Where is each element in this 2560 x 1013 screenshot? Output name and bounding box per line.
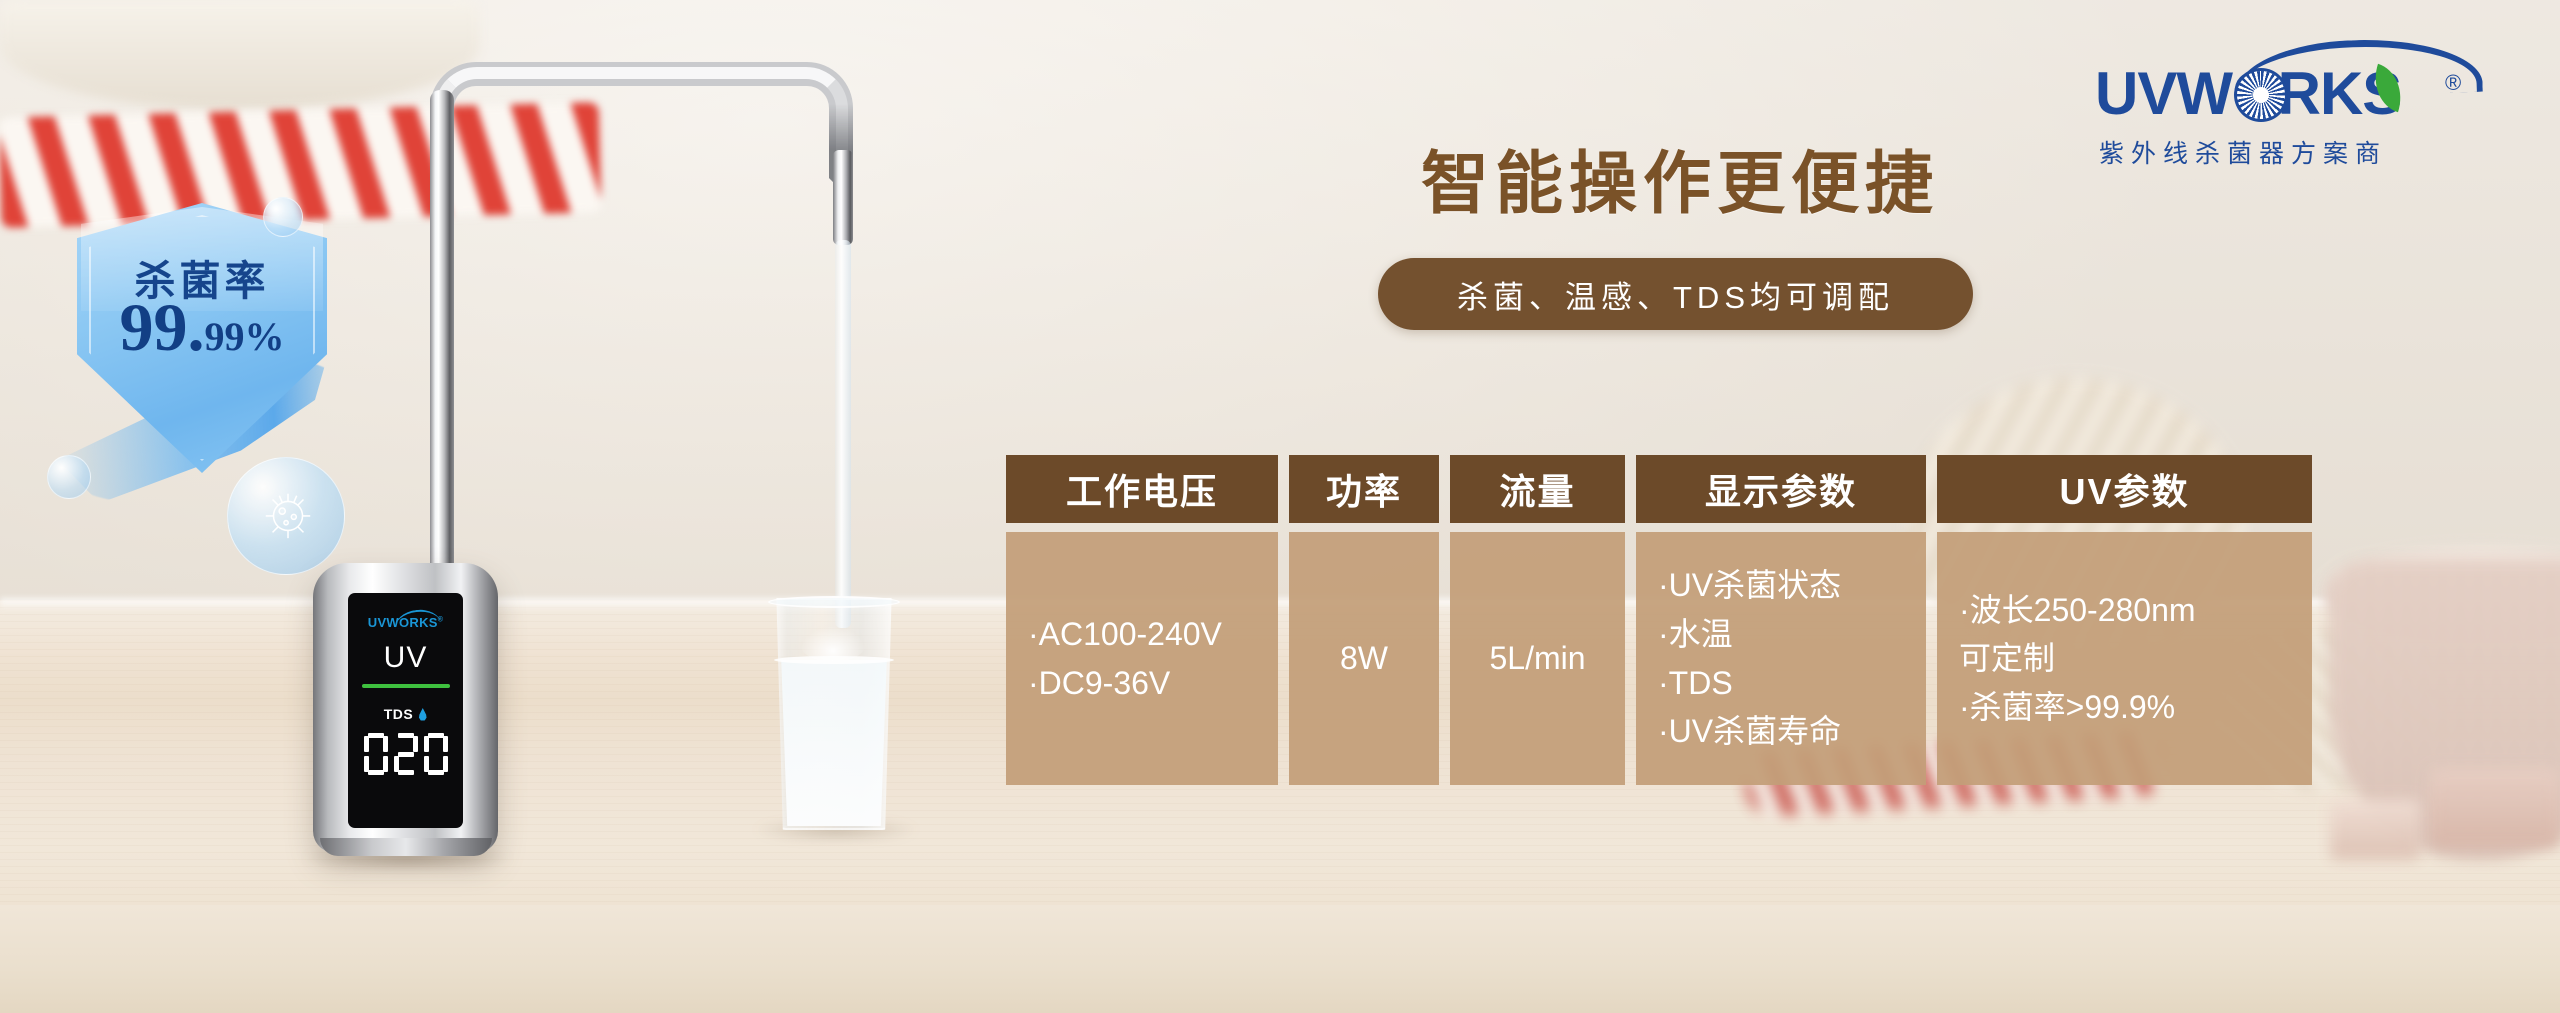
spec-line: ·UV杀菌寿命 <box>1658 707 1926 756</box>
spec-line: ·AC100-240V <box>1028 610 1278 659</box>
bubble-icon-1 <box>263 197 303 237</box>
uv-sterilizer-device: UVWORKS® UV TDS <box>313 563 498 853</box>
device-logo-text: UVWORKS <box>368 615 438 630</box>
subtitle-pill: 杀菌、温感、TDS均可调配 <box>1378 258 1973 330</box>
water-drop-icon <box>418 708 427 721</box>
device-mode-label: UV <box>348 641 463 675</box>
spec-cell-power: 8W <box>1289 532 1439 785</box>
spec-line: ·波长250-280nm <box>1959 586 2312 635</box>
spec-header-uv: UV参数 <box>1937 455 2312 523</box>
banner-canvas: 杀菌率 99.99% <box>0 0 2560 1013</box>
spec-column-voltage: 工作电压 ·AC100-240V ·DC9-36V <box>1006 455 1278 785</box>
spec-column-uv: UV参数 ·波长250-280nm 可定制 ·杀菌率>99.9% <box>1937 455 2312 785</box>
device-display-screen: UVWORKS® UV TDS <box>348 593 463 828</box>
block-prop-right <box>2430 768 2560 848</box>
spec-line: ·UV杀菌状态 <box>1658 561 1926 610</box>
page-title: 智能操作更便捷 <box>1360 128 2000 227</box>
spec-cell-flow: 5L/min <box>1450 532 1625 785</box>
seven-segment-digit <box>364 733 388 775</box>
faucet-arch-shading <box>430 62 853 202</box>
logo-subtitle: 紫外线杀菌器方案商 <box>2099 134 2459 170</box>
spec-column-flow: 流量 5L/min <box>1450 455 1625 785</box>
sterilization-rate-badge: 杀菌率 99.99% <box>35 185 365 505</box>
spec-line: ·DC9-36V <box>1028 659 1278 708</box>
spec-cell-display: ·UV杀菌状态 ·水温 ·TDS ·UV杀菌寿命 <box>1636 532 1926 785</box>
device-tds-value <box>348 733 463 775</box>
faucet-spout <box>833 150 853 245</box>
spec-line: 8W <box>1340 634 1388 683</box>
block-prop-right-2 <box>2330 800 2420 860</box>
spec-column-power: 功率 8W <box>1289 455 1439 785</box>
water-splash <box>800 626 866 662</box>
brand-logo: UVWORKS ® 紫外线杀菌器方案商 <box>2095 38 2495 168</box>
bacteria-icon <box>259 485 317 543</box>
badge-value: 99.99% <box>77 293 327 361</box>
seven-segment-digit <box>424 733 448 775</box>
water-stream <box>835 240 851 628</box>
bubble-icon-2 <box>47 455 91 499</box>
spec-line: 可定制 <box>1959 634 2312 683</box>
spec-line: 5L/min <box>1489 634 1585 683</box>
faucet-column <box>430 90 454 590</box>
spec-line: ·水温 <box>1658 610 1926 659</box>
spec-cell-uv: ·波长250-280nm 可定制 ·杀菌率>99.9% <box>1937 532 2312 785</box>
spec-header-power: 功率 <box>1289 455 1439 523</box>
device-tds-text: TDS <box>384 706 414 722</box>
seven-segment-digit <box>394 733 418 775</box>
device-tds-label: TDS <box>348 706 463 722</box>
badge-value-dot: . <box>188 289 205 365</box>
device-status-bar <box>362 684 450 688</box>
logo-sunburst-icon <box>2237 71 2285 119</box>
spec-cell-voltage: ·AC100-240V ·DC9-36V <box>1006 532 1278 785</box>
subtitle-pill-label: 杀菌、温感、TDS均可调配 <box>1457 272 1894 317</box>
device-base <box>320 838 492 856</box>
spec-header-display: 显示参数 <box>1636 455 1926 523</box>
glass-water-fill <box>774 660 894 826</box>
spec-line: ·杀菌率>99.9% <box>1959 683 2312 732</box>
device-logo-registered: ® <box>438 617 443 624</box>
logo-registered-mark: ® <box>2445 70 2461 96</box>
spec-header-voltage: 工作电压 <box>1006 455 1278 523</box>
spec-line: ·TDS <box>1658 659 1926 708</box>
spec-column-display: 显示参数 ·UV杀菌状态 ·水温 ·TDS ·UV杀菌寿命 <box>1636 455 1926 785</box>
glass-rim <box>768 596 900 608</box>
spec-header-flow: 流量 <box>1450 455 1625 523</box>
counter-front-panel <box>0 905 2560 1013</box>
badge-value-decimal: 99% <box>205 314 285 359</box>
spec-table: 工作电压 ·AC100-240V ·DC9-36V 功率 8W 流量 5L/mi… <box>1006 455 2312 785</box>
badge-value-main: 99 <box>120 289 188 365</box>
device-logo: UVWORKS® <box>348 615 463 630</box>
